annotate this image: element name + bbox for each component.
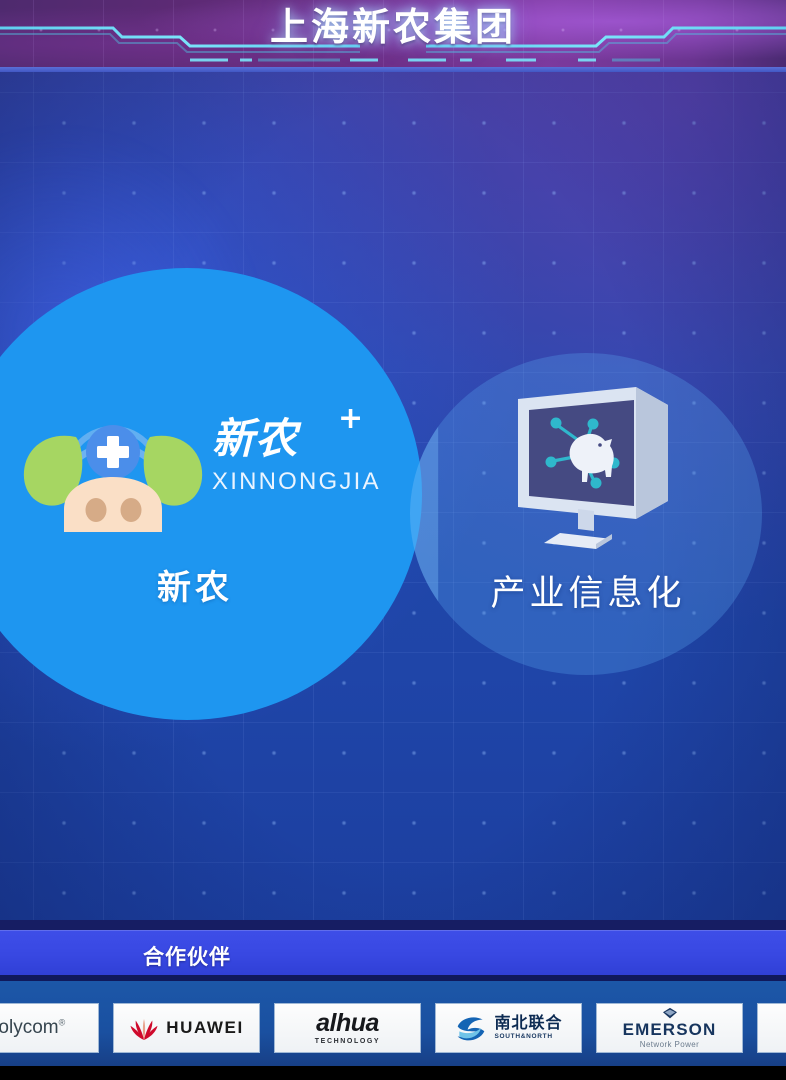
dahua-logo-icon: alhua TECHNOLOGY bbox=[315, 1011, 380, 1045]
partner-name-south-north: 南北联合 bbox=[494, 1015, 562, 1031]
pig-head-with-leaves-logo-icon bbox=[18, 405, 208, 535]
brand-lockup: 新农+ XINNONGJIA bbox=[212, 418, 412, 496]
footer-black-bar bbox=[0, 1066, 786, 1080]
right-circle-label: 产业信息化 bbox=[414, 565, 762, 616]
brand-plus-symbol: + bbox=[338, 404, 364, 434]
partner-card-polycom[interactable]: Polycom® bbox=[0, 1003, 99, 1053]
brand-name-en: XINNONGJIA bbox=[212, 468, 412, 496]
partner-bar-top-divider bbox=[0, 920, 786, 930]
page-header: 上海新农集团 bbox=[0, 0, 786, 72]
partner-name-polycom: Polycom bbox=[0, 1017, 59, 1038]
header-bottom-divider bbox=[0, 67, 786, 72]
page-title: 上海新农集团 bbox=[0, 0, 786, 51]
partner-card-globe[interactable] bbox=[757, 1003, 786, 1053]
brand-name-cn-text: 新农 bbox=[212, 414, 298, 463]
partner-card-huawei[interactable]: HUAWEI bbox=[113, 1003, 260, 1053]
left-circle-label: 新农 bbox=[0, 560, 390, 609]
partner-name-dahua: alhua bbox=[316, 1011, 379, 1036]
partner-card-dahua[interactable]: alhua TECHNOLOGY bbox=[274, 1003, 421, 1053]
partner-name-emerson: EMERSON bbox=[623, 1021, 717, 1038]
monitor-with-pig-network-icon bbox=[508, 383, 678, 551]
partner-name-huawei: HUAWEI bbox=[166, 1018, 244, 1038]
polycom-logo-icon: Polycom® bbox=[0, 1017, 65, 1039]
partner-sub-emerson: Network Power bbox=[640, 1041, 699, 1049]
app-screen: 上海新农集团 新农+ XINNONGJIA 新农 bbox=[0, 0, 786, 1080]
partner-card-emerson[interactable]: EMERSON Network Power bbox=[596, 1003, 743, 1053]
partner-sub-south-north: SOUTH&NORTH bbox=[494, 1034, 562, 1041]
partner-sub-dahua: TECHNOLOGY bbox=[315, 1038, 380, 1045]
huawei-flower-logo-icon bbox=[129, 1013, 159, 1043]
brand-name-cn: 新农+ bbox=[212, 418, 412, 460]
partner-logos-strip: Polycom® HUAWEI bbox=[0, 981, 786, 1066]
partner-section-title: 合作伙伴 bbox=[143, 941, 231, 971]
south-north-logo-icon bbox=[454, 1013, 488, 1043]
partner-card-south-north[interactable]: 南北联合 SOUTH&NORTH bbox=[435, 1003, 582, 1053]
emerson-mark-icon bbox=[661, 1007, 679, 1021]
polycom-trademark: ® bbox=[59, 1018, 66, 1028]
partner-bar: 合作伙伴 bbox=[0, 930, 786, 975]
emerson-logo-icon: EMERSON Network Power bbox=[623, 1007, 717, 1049]
